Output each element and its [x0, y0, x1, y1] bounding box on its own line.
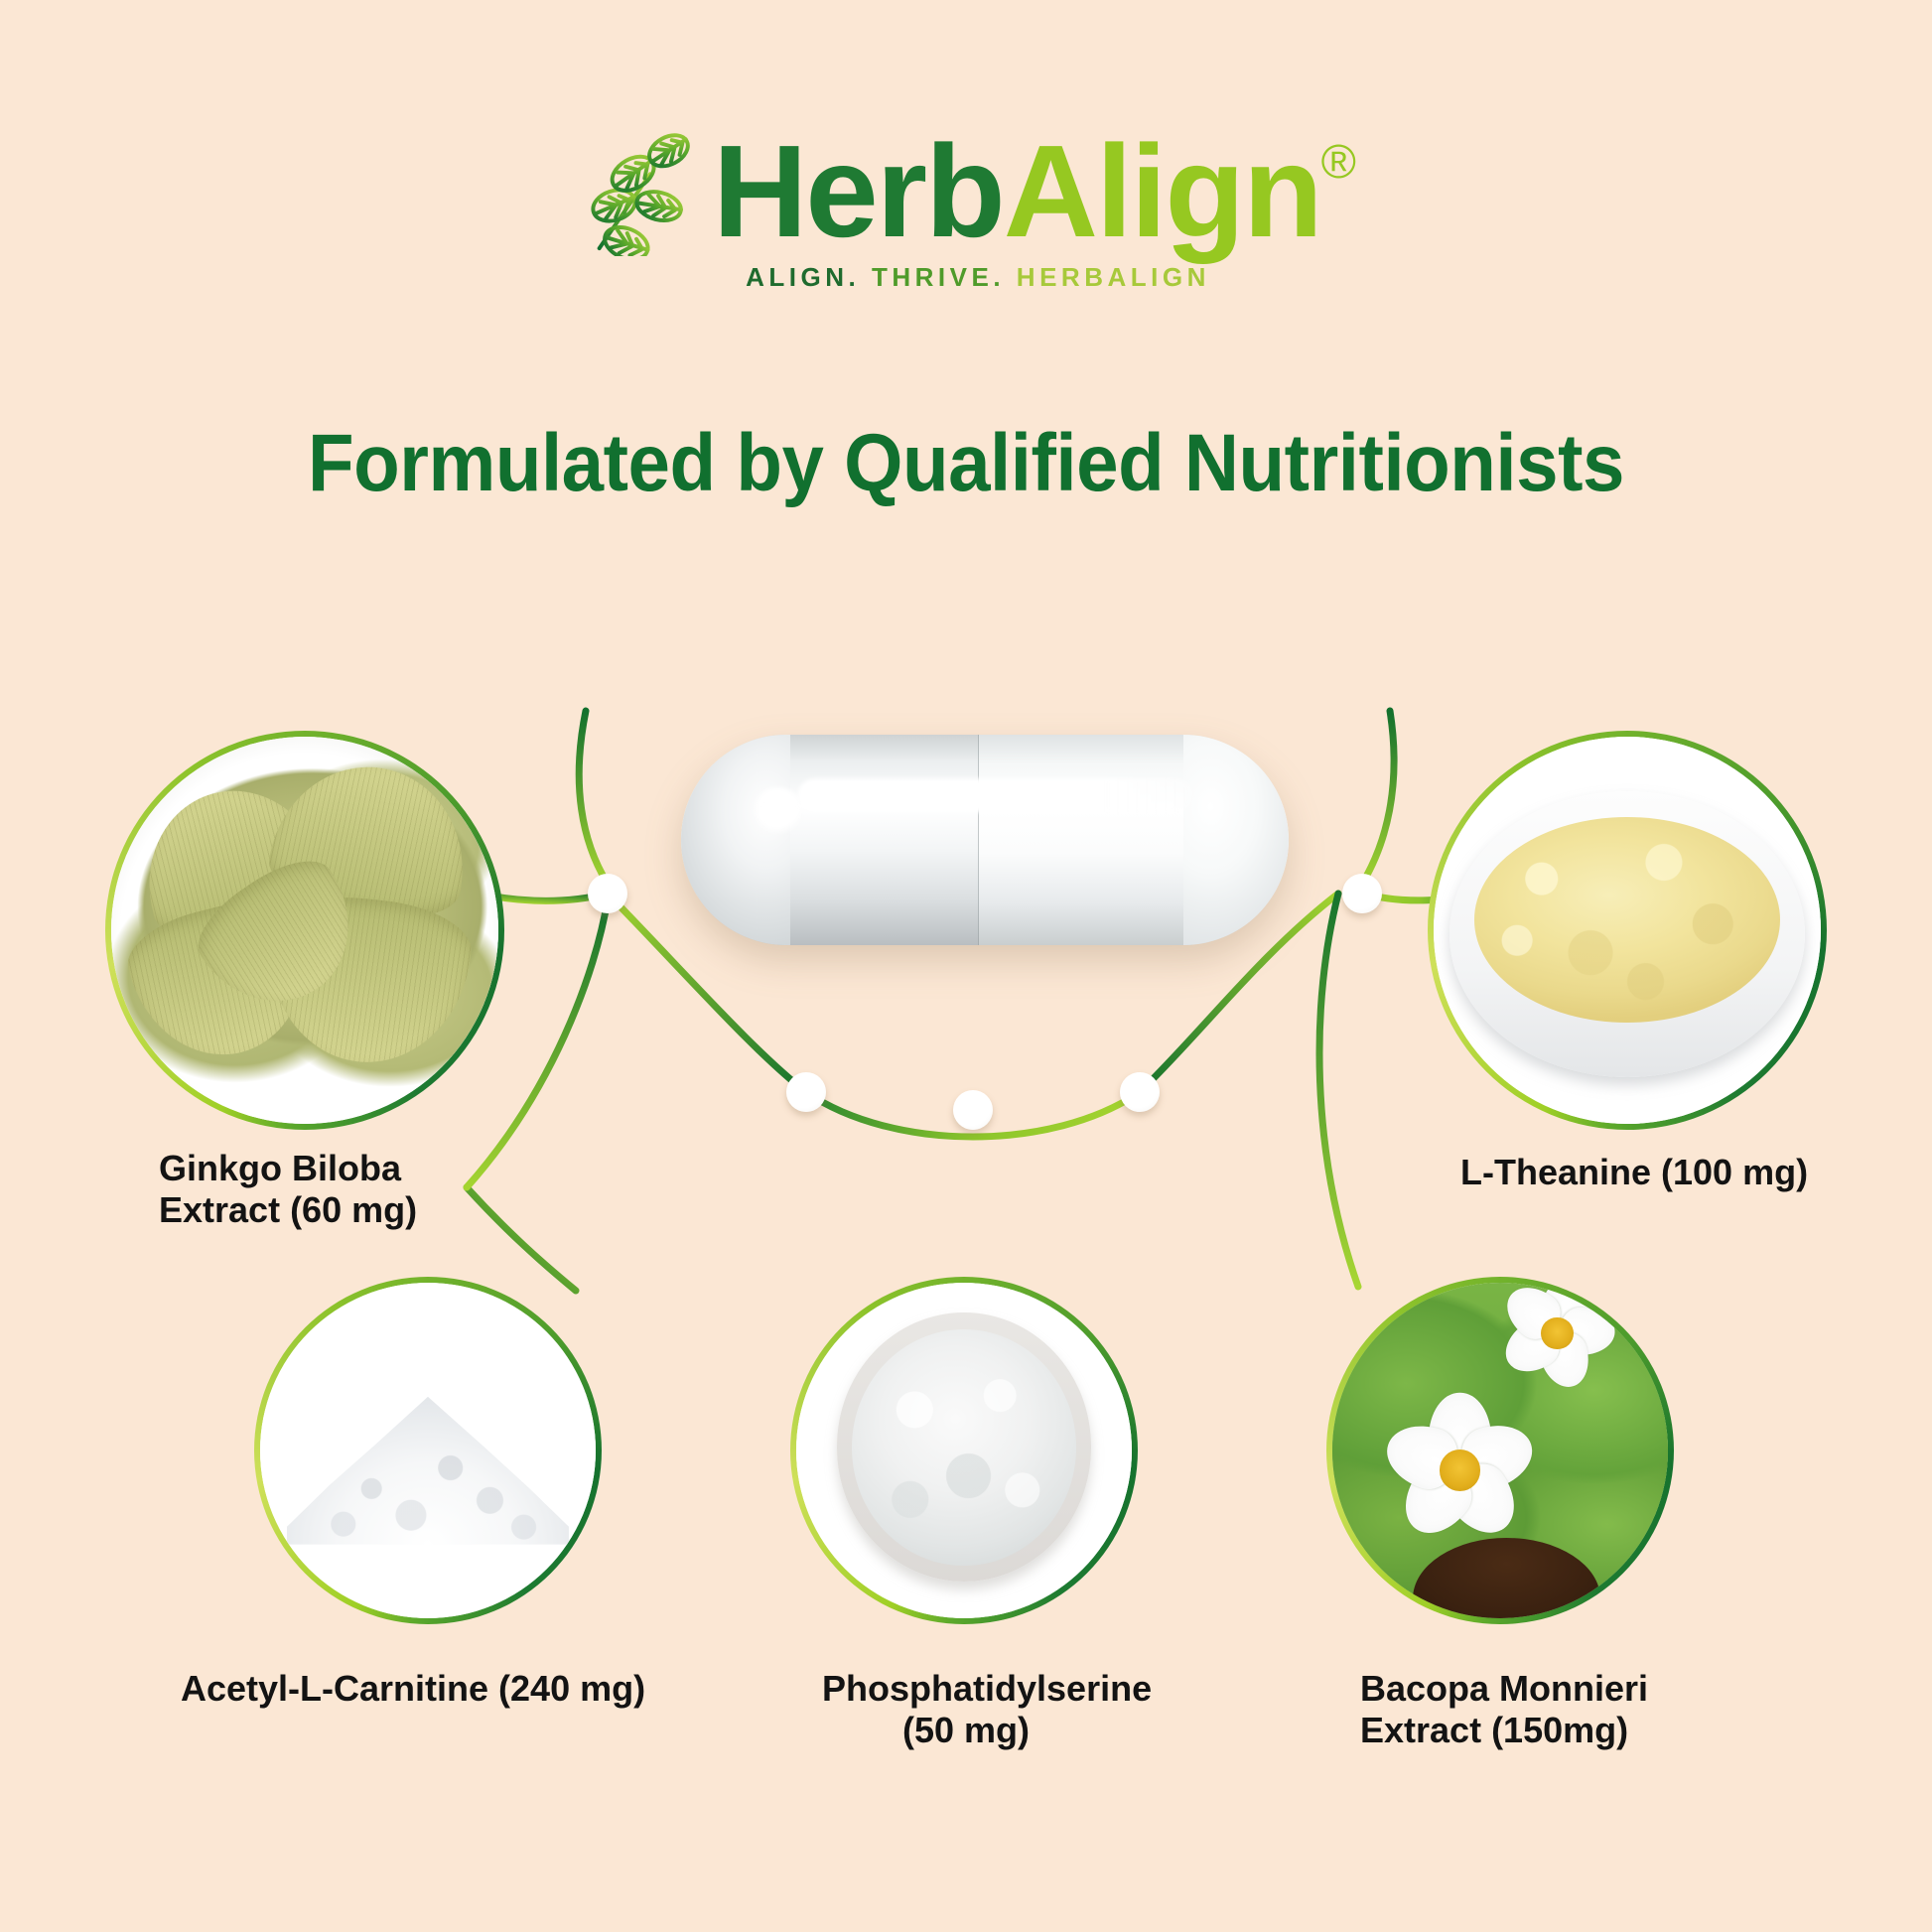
white-powder-dish-image	[796, 1283, 1132, 1618]
ingredient-image-ring	[1428, 731, 1827, 1130]
brand-logo: HerbAlign® ALIGN. THRIVE. HERBALIGN	[0, 127, 1932, 293]
tagline-word-1: ALIGN.	[746, 262, 860, 292]
ingredient-caption-theanine: L-Theanine (100 mg)	[1460, 1152, 1808, 1193]
infographic-canvas: HerbAlign® ALIGN. THRIVE. HERBALIGN Form…	[0, 0, 1932, 1932]
dried-ginkgo-leaves-image	[111, 737, 498, 1124]
ingredient-image-ring	[254, 1277, 602, 1624]
ingredient-caption-ps: Phosphatidylserine (50 mg)	[822, 1668, 1110, 1752]
ingredient-caption-bacopa: Bacopa Monnieri Extract (150mg)	[1360, 1668, 1648, 1752]
connector-dot-left	[588, 874, 627, 913]
connector-dot-center	[953, 1090, 993, 1130]
white-powder-mound-image	[260, 1283, 596, 1618]
ingredient-image-ring	[790, 1277, 1138, 1624]
ingredient-phosphatidylserine[interactable]	[790, 1277, 1138, 1624]
wordmark-align: Align	[1004, 129, 1321, 255]
page-title: Formulated by Qualified Nutritionists	[68, 417, 1864, 510]
brand-tagline: ALIGN. THRIVE. HERBALIGN	[746, 262, 1210, 293]
ingredient-image-ring	[1326, 1277, 1674, 1624]
ingredient-caption-alcar: Acetyl-L-Carnitine (240 mg)	[181, 1668, 645, 1710]
connector-dot-lower-right	[1120, 1072, 1160, 1112]
logo-row: HerbAlign®	[578, 127, 1354, 256]
bacopa-plant-image	[1332, 1283, 1668, 1618]
wordmark-herb: Herb	[713, 129, 1004, 255]
ingredient-caption-ginkgo: Ginkgo Biloba Extract (60 mg)	[159, 1148, 417, 1232]
ingredient-bacopa-monnieri[interactable]	[1326, 1277, 1674, 1624]
registered-trademark-icon: ®	[1321, 139, 1354, 187]
ingredient-l-theanine[interactable]	[1428, 731, 1827, 1130]
ingredient-acetyl-l-carnitine[interactable]	[254, 1277, 602, 1624]
wordmark: HerbAlign®	[713, 129, 1354, 255]
ingredient-ginkgo-biloba[interactable]	[105, 731, 504, 1130]
yellow-powder-dish-image	[1434, 737, 1821, 1124]
tagline-word-3: HERBALIGN	[1017, 262, 1210, 292]
ingredient-image-ring	[105, 731, 504, 1130]
leaf-cluster-icon	[578, 133, 695, 256]
connector-dot-right	[1342, 874, 1382, 913]
connector-dot-lower-left	[786, 1072, 826, 1112]
product-capsule	[681, 735, 1289, 945]
tagline-word-2: THRIVE.	[872, 262, 1005, 292]
